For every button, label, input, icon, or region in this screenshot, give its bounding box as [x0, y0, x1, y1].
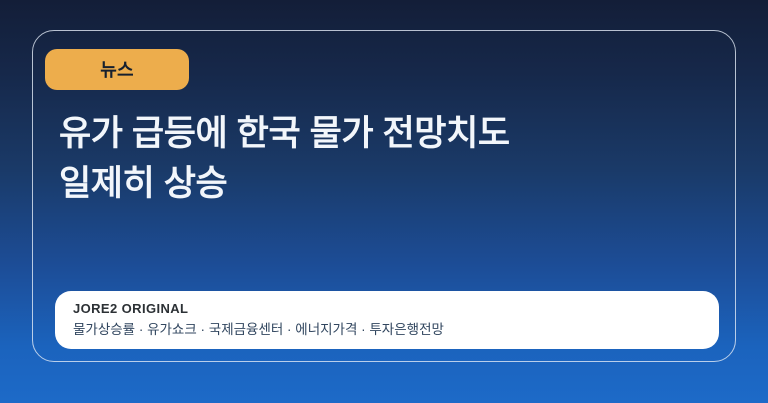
headline: 유가 급등에 한국 물가 전망치도 일제히 상승 — [59, 109, 695, 208]
source-tags-label: 물가상승률 · 유가쇼크 · 국제금융센터 · 에너지가격 · 투자은행전망 — [73, 321, 701, 340]
headline-line-2: 일제히 상승 — [59, 159, 695, 209]
source-card: JORE2 ORIGINAL 물가상승률 · 유가쇼크 · 국제금융센터 · 에… — [55, 291, 719, 349]
headline-line-1: 유가 급등에 한국 물가 전망치도 — [59, 109, 695, 159]
news-card-frame: 뉴스 유가 급등에 한국 물가 전망치도 일제히 상승 JORE2 ORIGIN… — [32, 30, 736, 362]
news-card-canvas: 뉴스 유가 급등에 한국 물가 전망치도 일제히 상승 JORE2 ORIGIN… — [0, 0, 768, 403]
category-badge[interactable]: 뉴스 — [45, 49, 189, 90]
source-brand-label: JORE2 ORIGINAL — [73, 300, 701, 318]
category-badge-label: 뉴스 — [100, 61, 134, 79]
